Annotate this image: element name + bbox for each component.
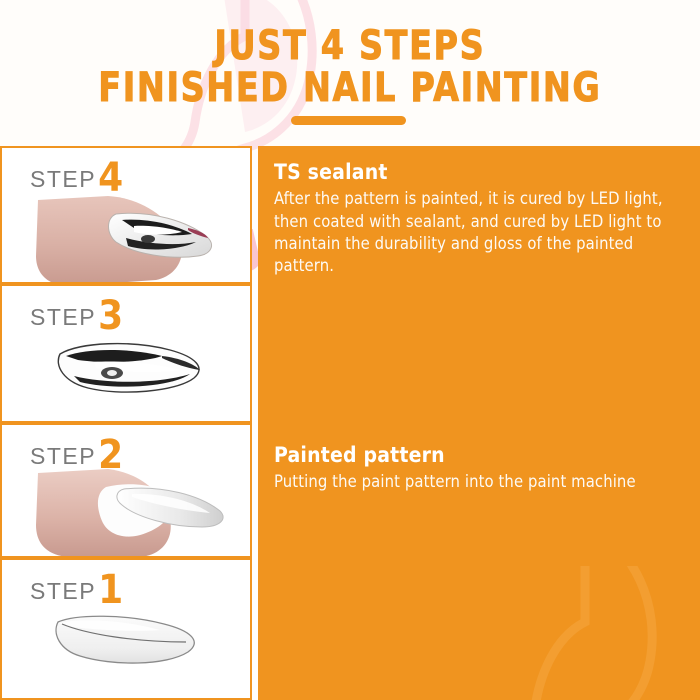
step-word-4: STEP	[30, 166, 96, 193]
art-finger-with-painted-nail-sealed	[30, 192, 230, 282]
step-row-3: STEP 3 Painted pattern	[0, 284, 700, 423]
step-label-2: STEP 2	[30, 435, 123, 470]
infographic-page: beauty JUST 4 STEPS FINISHED NAIL PAINTI…	[0, 0, 700, 700]
step-word-3: STEP	[30, 304, 96, 331]
art-finger-with-clear-nail-tip	[28, 467, 238, 556]
step-row-4: STEP 4	[0, 146, 700, 284]
step-body-4: After the pattern is painted, it is cure…	[274, 188, 686, 278]
page-title-line-2: FINISHED NAIL PAINTING	[28, 68, 672, 108]
step-card-1: STEP 1	[0, 558, 252, 700]
step-label-4: STEP 4	[30, 158, 123, 193]
steps-grid: beauty STEP 4	[0, 146, 700, 700]
step-label-3: STEP 3	[30, 296, 123, 331]
step-word-1: STEP	[30, 578, 96, 605]
header: JUST 4 STEPS FINISHED NAIL PAINTING	[0, 0, 700, 146]
step-row-2: STEP 2	[0, 423, 700, 558]
art-clear-nail-tip	[52, 612, 212, 668]
step-card-3: STEP 3	[0, 284, 252, 423]
step-word-2: STEP	[30, 443, 96, 470]
step-text-4: TS sealant After the pattern is painted,…	[274, 160, 686, 278]
art-nail-tip-with-black-white-pattern	[54, 340, 214, 400]
step-row-1: STEP 1	[0, 558, 700, 700]
step-number-2: 2	[98, 439, 123, 471]
step-number-3: 3	[98, 300, 123, 332]
step-card-2: STEP 2	[0, 423, 252, 558]
step-card-4: STEP 4	[0, 146, 252, 284]
step-number-1: 1	[98, 574, 123, 606]
step-number-4: 4	[98, 162, 123, 194]
step-title-4: TS sealant	[274, 160, 686, 184]
page-title-line-1: JUST 4 STEPS	[28, 26, 672, 66]
step-label-1: STEP 1	[30, 570, 123, 605]
title-underline-bar	[291, 116, 406, 125]
